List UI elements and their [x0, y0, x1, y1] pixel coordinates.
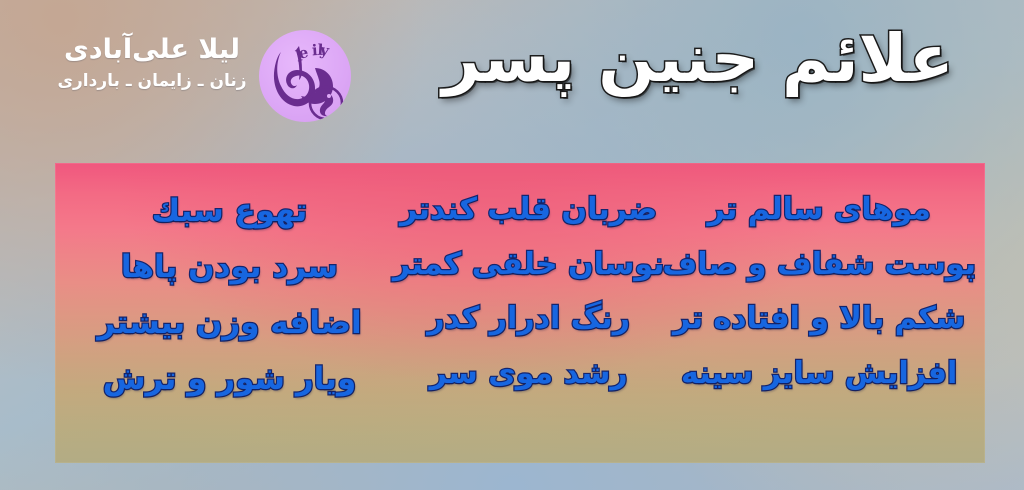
- clinic-doctor-name: لیلا علی‌آبادی: [52, 34, 252, 65]
- list-item: رنگ ادرار کدر: [427, 296, 630, 343]
- poster-canvas: لیلا علی‌آبادی زنان ـ زایمان ـ بارداری l…: [0, 0, 1024, 490]
- signs-panel: موهای سالم تر پوست شفاف و صاف شکم بالا و…: [55, 163, 985, 463]
- list-item: رشد موی سر: [430, 351, 628, 398]
- page-title: علائم جنین پسر: [398, 14, 998, 103]
- leily-logo-icon: l e i l y: [259, 30, 351, 122]
- list-item: اضافه وزن بیشتر: [97, 299, 361, 347]
- list-item: افزایش سایز سینه: [681, 351, 957, 398]
- list-item: ویار شور و ترش: [103, 355, 357, 403]
- clinic-logo: l e i l y: [259, 30, 351, 122]
- poster-header: لیلا علی‌آبادی زنان ـ زایمان ـ بارداری l…: [0, 0, 1024, 160]
- list-item: نوسان خلقی کمتر: [393, 242, 665, 289]
- signs-column-right: تهوع سبك سرد بودن پاها اضافه وزن بیشتر و…: [77, 187, 382, 441]
- list-item: سرد بودن پاها: [121, 243, 338, 291]
- clinic-identity: لیلا علی‌آبادی زنان ـ زایمان ـ بارداری: [52, 34, 252, 91]
- clinic-specialties: زنان ـ زایمان ـ بارداری: [52, 71, 252, 91]
- list-item: تهوع سبك: [152, 187, 308, 235]
- signs-columns: موهای سالم تر پوست شفاف و صاف شکم بالا و…: [55, 163, 985, 463]
- signs-column-left: موهای سالم تر پوست شفاف و صاف شکم بالا و…: [675, 187, 963, 441]
- list-item: ضربان قلب کندتر: [400, 187, 657, 234]
- signs-column-middle: ضربان قلب کندتر نوسان خلقی کمتر رنگ ادرا…: [382, 187, 675, 441]
- list-item: شکم بالا و افتاده تر: [673, 296, 965, 343]
- list-item: پوست شفاف و صاف: [662, 242, 976, 289]
- svg-text:e: e: [297, 43, 310, 62]
- list-item: موهای سالم تر: [708, 187, 931, 234]
